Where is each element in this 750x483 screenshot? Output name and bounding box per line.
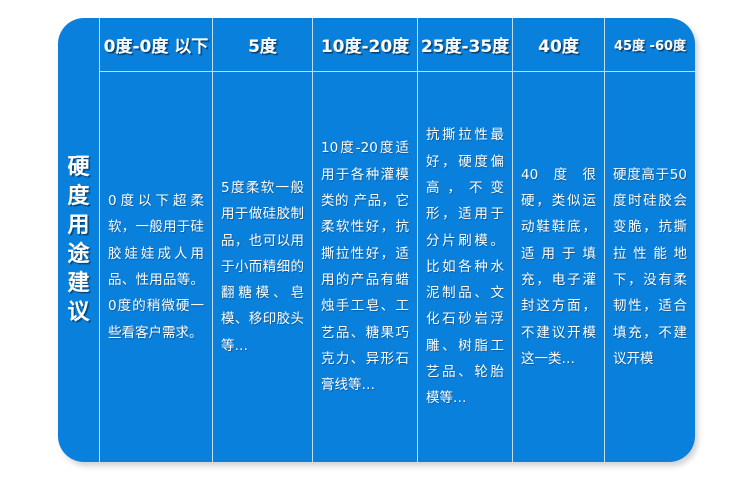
column-header-label: 45度 -60度: [614, 35, 686, 54]
hardness-column: 45度 -60度 硬度高于50度时硅胶会变脆，抗撕拉性能地下，没有柔韧性，适合填…: [605, 18, 695, 462]
row-label-char-2: 度: [67, 182, 89, 211]
column-header: 25度-35度: [418, 18, 512, 72]
row-label-char-5: 建: [67, 269, 89, 298]
column-header-label: 40度: [538, 32, 579, 57]
column-body: 5度柔软一般用于做硅胶制品，也可以用于小而精细的翻糖模、皂模、移印胶头等…: [213, 72, 312, 462]
column-header: 40度: [513, 18, 604, 72]
column-body-text: 10度-20度适用于各种灌模类的 产品，它柔软性好，抗撕拉性好，适用的产品有蜡烛…: [321, 135, 409, 398]
row-label-vertical-text: 硬 度 用 途 建 议: [67, 153, 89, 327]
row-label-char-4: 途: [67, 240, 89, 269]
column-header-label: 0度-0度 以下: [104, 32, 209, 57]
column-body-text: 抗撕拉性最好，硬度偏高，不变形，适用于分片刷模。比如各种水泥制品、文化石砂岩浮雕…: [426, 122, 504, 411]
column-body: 10度-20度适用于各种灌模类的 产品，它柔软性好，抗撕拉性好，适用的产品有蜡烛…: [313, 72, 417, 462]
column-header: 10度-20度: [313, 18, 417, 72]
page-root: 硬 度 用 途 建 议 0度-0度 以下 0度以下超柔软，一般用于硅胶娃娃成人用…: [0, 0, 750, 483]
hardness-column: 0度-0度 以下 0度以下超柔软，一般用于硅胶娃娃成人用品、性用品等。0度的稍微…: [100, 18, 213, 462]
column-header-label: 25度-35度: [421, 32, 509, 57]
hardness-column: 5度 5度柔软一般用于做硅胶制品，也可以用于小而精细的翻糖模、皂模、移印胶头等…: [213, 18, 313, 462]
hardness-column: 40度 40度很 硬，类似运动鞋鞋底，适用于填充，电子灌封这方面，不建议开模这一…: [513, 18, 605, 462]
column-body: 抗撕拉性最好，硬度偏高，不变形，适用于分片刷模。比如各种水泥制品、文化石砂岩浮雕…: [418, 72, 512, 462]
column-header: 5度: [213, 18, 312, 72]
column-body-text: 40度很 硬，类似运动鞋鞋底，适用于填充，电子灌封这方面，不建议开模这一类…: [521, 162, 596, 373]
column-header: 45度 -60度: [605, 18, 695, 72]
column-header-label: 10度-20度: [321, 32, 409, 57]
column-header-label: 5度: [248, 32, 277, 57]
hardness-column: 10度-20度 10度-20度适用于各种灌模类的 产品，它柔软性好，抗撕拉性好，…: [313, 18, 418, 462]
hardness-usage-table: 硬 度 用 途 建 议 0度-0度 以下 0度以下超柔软，一般用于硅胶娃娃成人用…: [58, 18, 695, 462]
hardness-column: 25度-35度 抗撕拉性最好，硬度偏高，不变形，适用于分片刷模。比如各种水泥制品…: [418, 18, 513, 462]
row-label-char-6: 议: [67, 298, 89, 327]
row-label-char-1: 硬: [67, 153, 89, 182]
row-label-char-3: 用: [67, 211, 89, 240]
row-label-column: 硬 度 用 途 建 议: [58, 18, 100, 462]
column-header: 0度-0度 以下: [100, 18, 212, 72]
column-body-text: 硬度高于50度时硅胶会变脆，抗撕拉性能地下，没有柔韧性，适合填充，不建议开模: [613, 162, 687, 373]
column-body-text: 0度以下超柔软，一般用于硅胶娃娃成人用品、性用品等。0度的稍微硬一些看客户需求。: [108, 188, 204, 346]
column-body-text: 5度柔软一般用于做硅胶制品，也可以用于小而精细的翻糖模、皂模、移印胶头等…: [221, 175, 304, 359]
column-body: 0度以下超柔软，一般用于硅胶娃娃成人用品、性用品等。0度的稍微硬一些看客户需求。: [100, 72, 212, 462]
column-body: 40度很 硬，类似运动鞋鞋底，适用于填充，电子灌封这方面，不建议开模这一类…: [513, 72, 604, 462]
column-body: 硬度高于50度时硅胶会变脆，抗撕拉性能地下，没有柔韧性，适合填充，不建议开模: [605, 72, 695, 462]
